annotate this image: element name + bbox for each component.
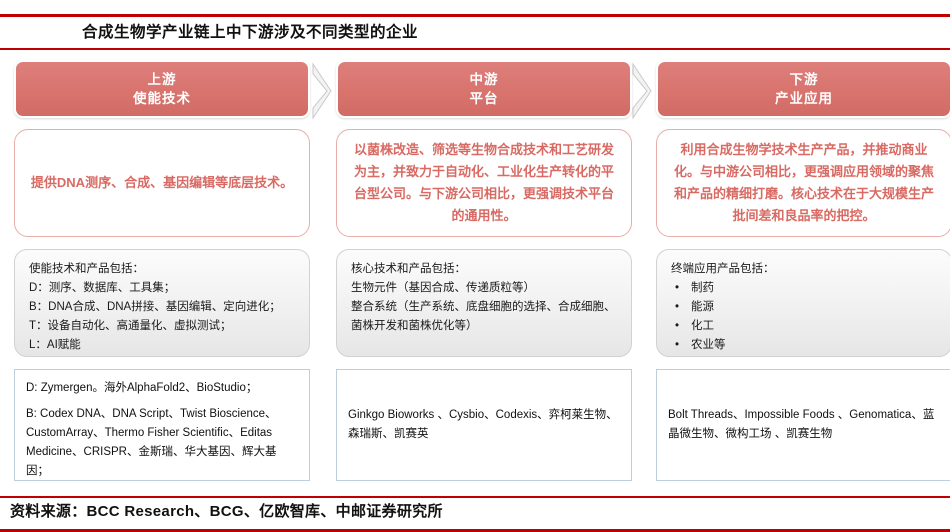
companies-card-downstream: Bolt Threads、Impossible Foods 、Genomatic… [656,369,950,481]
title-underline-rule [0,48,950,50]
stage-header-line1: 上游 [148,70,177,89]
chevron-right-icon [631,62,653,120]
column-upstream: 上游 使能技术 提供DNA测序、合成、基因编辑等底层技术。 使能技术和产品包括：… [14,60,310,481]
detail-card-midstream: 核心技术和产品包括： 生物元件（基因合成、传递质粒等） 整合系统（生产系统、底盘… [336,249,632,357]
column-downstream: 下游 产业应用 利用合成生物学技术生产产品，并推动商业化。与中游公司相比，更强调… [656,60,950,481]
stage-header-line2: 使能技术 [133,89,191,108]
company-paragraph: Bolt Threads、Impossible Foods 、Genomatic… [668,406,940,444]
description-text: 以菌株改造、筛选等生物合成技术和工艺研发为主，并致力于自动化、工业化生产转化的平… [349,139,619,227]
detail-card-downstream: 终端应用产品包括： 制药 能源 化工 农业等 [656,249,950,357]
footer-divider-rule [0,496,950,498]
list-item: 制药 [671,279,937,298]
companies-card-upstream: D: Zymergen。海外AlphaFold2、BioStudio； B: C… [14,369,310,481]
stage-header-line2: 产业应用 [775,89,833,108]
list-item: 化工 [671,317,937,336]
source-footnote: 资料来源：BCC Research、BCG、亿欧智库、中邮证券研究所 [10,500,443,521]
description-card-midstream: 以菌株改造、筛选等生物合成技术和工艺研发为主，并致力于自动化、工业化生产转化的平… [336,129,632,237]
detail-title: 使能技术和产品包括： [29,260,295,279]
chevron-right-icon [311,62,333,120]
detail-bullet-list: 制药 能源 化工 农业等 [671,279,937,355]
detail-title: 终端应用产品包括： [671,260,937,279]
stage-header-line1: 下游 [790,70,819,89]
detail-line: T：设备自动化、高通量化、虚拟测试； [29,317,295,336]
list-item: 能源 [671,298,937,317]
company-paragraph: D: Zymergen。海外AlphaFold2、BioStudio； [26,379,298,398]
detail-line: D：测序、数据库、工具集； [29,279,295,298]
companies-card-midstream: Ginkgo Bioworks 、Cysbio、Codexis、弈柯莱生物、森瑞… [336,369,632,481]
company-paragraph: Ginkgo Bioworks 、Cysbio、Codexis、弈柯莱生物、森瑞… [348,406,620,444]
company-paragraph: B: Codex DNA、DNA Script、Twist Bioscience… [26,405,298,481]
stage-header-downstream[interactable]: 下游 产业应用 [656,60,950,118]
description-text: 提供DNA测序、合成、基因编辑等底层技术。 [27,172,297,194]
list-item: 农业等 [671,336,937,355]
description-text: 利用合成生物学技术生产产品，并推动商业化。与中游公司相比，更强调应用领域的聚焦和… [669,139,939,227]
detail-line: L：AI赋能 [29,336,295,355]
description-card-upstream: 提供DNA测序、合成、基因编辑等底层技术。 [14,129,310,237]
stage-header-line1: 中游 [470,70,499,89]
detail-line: B：DNA合成、DNA拼接、基因编辑、定向进化； [29,298,295,317]
stage-header-midstream[interactable]: 中游 平台 [336,60,632,118]
description-card-downstream: 利用合成生物学技术生产产品，并推动商业化。与中游公司相比，更强调应用领域的聚焦和… [656,129,950,237]
detail-title: 核心技术和产品包括： [351,260,617,279]
stage-header-upstream[interactable]: 上游 使能技术 [14,60,310,118]
detail-line: 整合系统（生产系统、底盘细胞的选择、合成细胞、菌株开发和菌株优化等） [351,298,617,336]
detail-card-upstream: 使能技术和产品包括： D：测序、数据库、工具集； B：DNA合成、DNA拼接、基… [14,249,310,357]
detail-line: 生物元件（基因合成、传递质粒等） [351,279,617,298]
stage-header-line2: 平台 [470,89,499,108]
column-midstream: 中游 平台 以菌株改造、筛选等生物合成技术和工艺研发为主，并致力于自动化、工业化… [336,60,632,481]
page-title: 合成生物学产业链上中下游涉及不同类型的企业 [82,17,418,48]
